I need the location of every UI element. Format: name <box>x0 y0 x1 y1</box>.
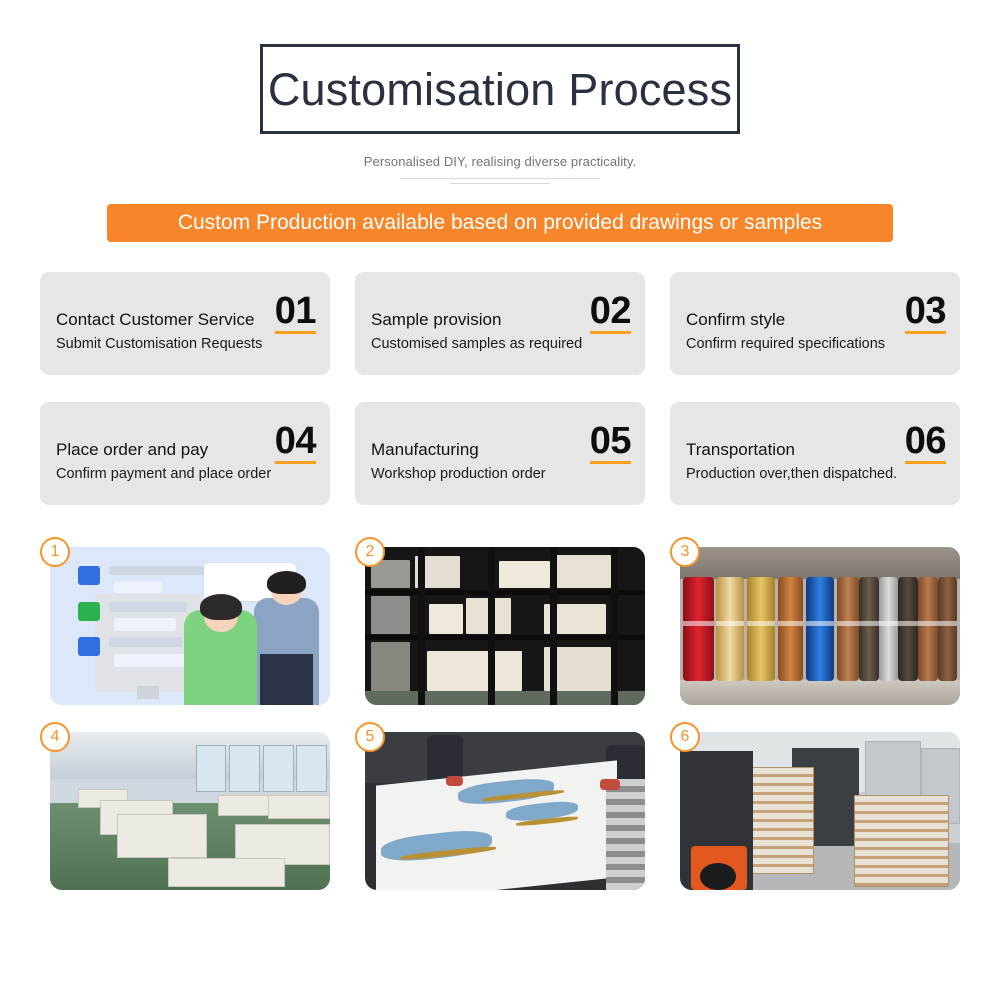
window-4 <box>296 745 327 792</box>
step-card-01-underline <box>275 331 316 334</box>
step-card-05: Manufacturing 05 Workshop production ord… <box>355 402 645 505</box>
step-card-06-number: 06 <box>905 424 946 459</box>
process-photo-gallery: 1 2 <box>40 505 960 890</box>
step-card-06: Transportation 06 Production over,then d… <box>670 402 960 505</box>
step-card-06-title: Transportation <box>686 440 795 463</box>
step-card-02-number-box: 02 <box>590 294 631 334</box>
shelf-beam-1 <box>365 590 645 595</box>
factory-panel-stacks-photo <box>50 732 330 890</box>
step-card-04-title: Place order and pay <box>56 440 208 463</box>
conveyor-rollers <box>606 779 645 890</box>
title-frame: Customisation Process <box>260 44 740 134</box>
chat-icon-blue-2 <box>78 637 100 656</box>
roll-blue <box>806 577 834 681</box>
subtitle-block: Personalised DIY, realising diverse prac… <box>0 154 1000 184</box>
step-card-03: Confirm style 03 Confirm required specif… <box>670 272 960 375</box>
stack-d <box>555 555 611 588</box>
step-card-01-title: Contact Customer Service <box>56 310 254 333</box>
step-card-05-number: 05 <box>590 424 631 459</box>
step-card-05-header: Manufacturing 05 <box>371 424 631 464</box>
step-card-03-description: Confirm required specifications <box>686 336 946 353</box>
monitor-stand-shape <box>137 686 159 699</box>
warehouse-floor <box>365 691 645 705</box>
custom-production-banner: Custom Production available based on pro… <box>107 204 893 242</box>
divider-long <box>400 178 600 179</box>
step-card-05-description: Workshop production order <box>371 466 631 483</box>
step-card-02-description: Customised samples as required <box>371 336 631 353</box>
shelf-upright-1 <box>418 547 425 705</box>
forklift-wheel <box>700 863 736 890</box>
roll-silver <box>879 577 899 681</box>
gallery-badge-3: 3 <box>670 537 700 567</box>
step-card-04-description: Confirm payment and place order <box>56 466 316 483</box>
step-card-06-underline <box>905 461 946 464</box>
shelf-upright-4 <box>611 547 618 705</box>
glove-left <box>446 776 463 785</box>
pallet-stack-right <box>854 795 949 887</box>
shelf-upright-2 <box>488 547 495 705</box>
marble-vein-blue-1 <box>381 827 492 864</box>
banner-label: Custom Production available based on pro… <box>178 211 822 235</box>
page-header: Customisation Process Personalised DIY, … <box>0 0 1000 184</box>
person-b-hair <box>267 571 306 595</box>
reflective-floor <box>680 680 960 705</box>
pallet-stack-left <box>747 767 814 874</box>
chat-bubble-1 <box>114 582 162 593</box>
roll-dark-brown <box>859 577 879 681</box>
stack-e <box>371 596 410 634</box>
step-card-03-underline <box>905 331 946 334</box>
person-a-hair <box>200 594 242 619</box>
stack-f <box>429 604 463 634</box>
panel-stack-near <box>117 814 207 858</box>
glove-right <box>600 779 620 790</box>
step-card-05-title: Manufacturing <box>371 440 479 463</box>
step-card-03-header: Confirm style 03 <box>686 294 946 334</box>
step-card-04-number: 04 <box>275 424 316 459</box>
chat-line-3 <box>109 637 182 646</box>
gallery-cell-3: 3 <box>670 537 960 705</box>
roll-gold <box>747 577 775 681</box>
window-1 <box>196 745 227 792</box>
gallery-cell-5: 5 <box>355 722 645 890</box>
gallery-cell-6: 6 <box>670 722 960 890</box>
step-card-04-underline <box>275 461 316 464</box>
stack-j <box>427 651 522 691</box>
divider-short <box>450 183 550 184</box>
metallic-film-rolls-photo <box>680 547 960 705</box>
chat-line-1 <box>109 566 204 575</box>
panel-stack-right <box>268 795 330 819</box>
step-card-01-header: Contact Customer Service 01 <box>56 294 316 334</box>
chat-line-2 <box>109 602 187 611</box>
chat-bubble-2 <box>114 618 176 631</box>
roll-bronze <box>837 577 859 681</box>
roll-walnut <box>938 577 958 681</box>
step-card-01-number-box: 01 <box>275 294 316 334</box>
step-card-02: Sample provision 02 Customised samples a… <box>355 272 645 375</box>
step-card-01-description: Submit Customisation Requests <box>56 336 316 353</box>
step-card-06-header: Transportation 06 <box>686 424 946 464</box>
customer-service-illustration <box>50 547 330 705</box>
gallery-badge-6: 6 <box>670 722 700 752</box>
roll-red <box>683 577 714 681</box>
panel-stack-right-far <box>218 795 274 816</box>
step-card-04-number-box: 04 <box>275 424 316 464</box>
step-card-06-description: Production over,then dispatched. <box>686 466 946 483</box>
forklift-loading-truck-photo <box>680 732 960 890</box>
marble-sheet-production-line-photo <box>365 732 645 890</box>
gallery-cell-2: 2 <box>355 537 645 705</box>
step-card-01-number: 01 <box>275 294 316 329</box>
chat-icon-green <box>78 602 100 621</box>
page-subtitle: Personalised DIY, realising diverse prac… <box>0 154 1000 169</box>
step-card-02-underline <box>590 331 631 334</box>
step-card-05-number-box: 05 <box>590 424 631 464</box>
gallery-badge-4: 4 <box>40 722 70 752</box>
panel-sheet-foreground <box>168 858 286 886</box>
shelf-beam-2 <box>365 635 645 640</box>
step-card-02-title: Sample provision <box>371 310 501 333</box>
window-2 <box>229 745 260 792</box>
chat-bubble-3 <box>114 654 190 667</box>
roll-wood-copper <box>918 577 938 681</box>
shelf-upright-3 <box>550 547 557 705</box>
step-card-03-number: 03 <box>905 294 946 329</box>
gallery-cell-4: 4 <box>40 722 330 890</box>
window-3 <box>263 745 294 792</box>
stack-i <box>371 642 410 691</box>
step-card-02-number: 02 <box>590 294 631 329</box>
stack-c <box>499 561 549 588</box>
step-card-05-underline <box>590 461 631 464</box>
gallery-badge-5: 5 <box>355 722 385 752</box>
step-card-04: Place order and pay 04 Confirm payment a… <box>40 402 330 505</box>
page-title: Customisation Process <box>268 67 732 112</box>
step-card-06-number-box: 06 <box>905 424 946 464</box>
gallery-badge-2: 2 <box>355 537 385 567</box>
step-card-02-header: Sample provision 02 <box>371 294 631 334</box>
gallery-badge-1: 1 <box>40 537 70 567</box>
roll-copper <box>778 577 803 681</box>
roll-champagne <box>716 577 744 681</box>
step-card-03-title: Confirm style <box>686 310 785 333</box>
background-racking <box>680 547 960 579</box>
step-card-03-number-box: 03 <box>905 294 946 334</box>
person-b-skirt <box>260 654 313 705</box>
chat-icon-blue <box>78 566 100 585</box>
gallery-cell-1: 1 <box>40 537 330 705</box>
warehouse-sample-shelves-photo <box>365 547 645 705</box>
roll-charcoal <box>898 577 918 681</box>
step-card-04-header: Place order and pay 04 <box>56 424 316 464</box>
step-card-01: Contact Customer Service 01 Submit Custo… <box>40 272 330 375</box>
process-steps-grid: Contact Customer Service 01 Submit Custo… <box>40 242 960 505</box>
